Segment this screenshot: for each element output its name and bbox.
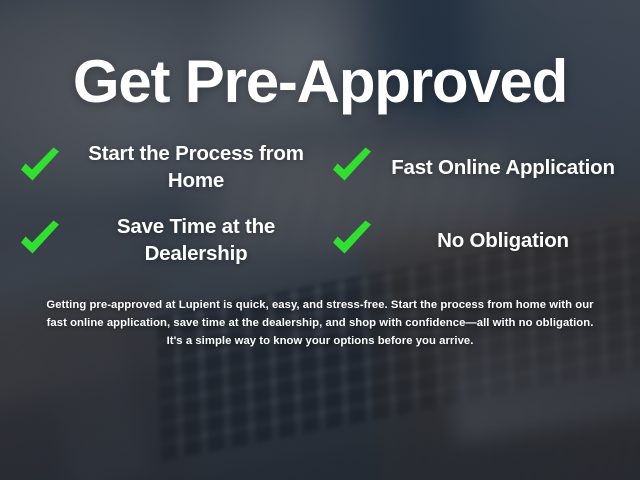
feature-label: Save Time at the Dealership: [72, 213, 320, 268]
feature-list: Start the Process from Home Fast Online …: [0, 140, 640, 268]
pre-approved-promo-banner: Get Pre-Approved Start the Process from …: [0, 0, 640, 480]
check-icon: [330, 220, 374, 260]
banner-content: Get Pre-Approved Start the Process from …: [0, 0, 640, 480]
feature-item-save-time: Save Time at the Dealership: [18, 213, 320, 268]
feature-label: No Obligation: [384, 227, 622, 254]
feature-item-start-process: Start the Process from Home: [18, 140, 320, 195]
feature-item-no-obligation: No Obligation: [320, 213, 622, 268]
feature-item-fast-online-application: Fast Online Application: [320, 140, 622, 195]
description-paragraph: Getting pre-approved at Lupient is quick…: [42, 296, 598, 351]
check-icon: [18, 147, 62, 187]
check-icon: [18, 220, 62, 260]
feature-label: Fast Online Application: [384, 154, 622, 181]
check-icon: [330, 147, 374, 187]
feature-label: Start the Process from Home: [72, 140, 320, 195]
page-title: Get Pre-Approved: [0, 52, 640, 112]
